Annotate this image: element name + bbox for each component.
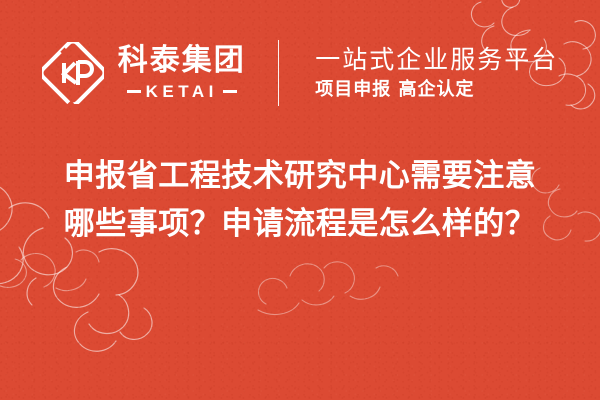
- page-title: 申报省工程技术研究中心需要注意 哪些事项？申请流程是怎么样的？: [0, 152, 600, 248]
- cloud-pattern-mid-left-icon: [0, 238, 120, 308]
- tagline-secondary: 项目申报 高企认定: [315, 81, 558, 99]
- cloud-pattern-center-icon: [250, 250, 440, 330]
- headline-line-2: 哪些事项？申请流程是怎么样的？: [0, 200, 600, 248]
- banner-header: 科泰集团 KETAI 一站式企业服务平台 项目申报 高企认定: [0, 34, 600, 112]
- wordmark-rule-right: [223, 90, 237, 93]
- ketai-diamond-monogram-logo-icon: [42, 42, 104, 104]
- wordmark-latin: KETAI: [146, 83, 218, 100]
- wordmark-rule-left: [127, 90, 141, 93]
- wordmark-latin-row: KETAI: [127, 83, 237, 100]
- wordmark: 科泰集团 KETAI: [118, 46, 246, 100]
- headline-line-1: 申报省工程技术研究中心需要注意: [0, 152, 600, 200]
- brand-divider: [278, 40, 280, 106]
- wordmark-chinese: 科泰集团: [118, 46, 246, 76]
- brand-lockup: 科泰集团 KETAI 一站式企业服务平台 项目申报 高企认定: [42, 40, 559, 106]
- promo-banner: 科泰集团 KETAI 一站式企业服务平台 项目申报 高企认定 申报省工程技术研究…: [0, 0, 600, 400]
- tagline-primary: 一站式企业服务平台: [315, 47, 558, 72]
- tagline-block: 一站式企业服务平台 项目申报 高企认定: [315, 47, 558, 99]
